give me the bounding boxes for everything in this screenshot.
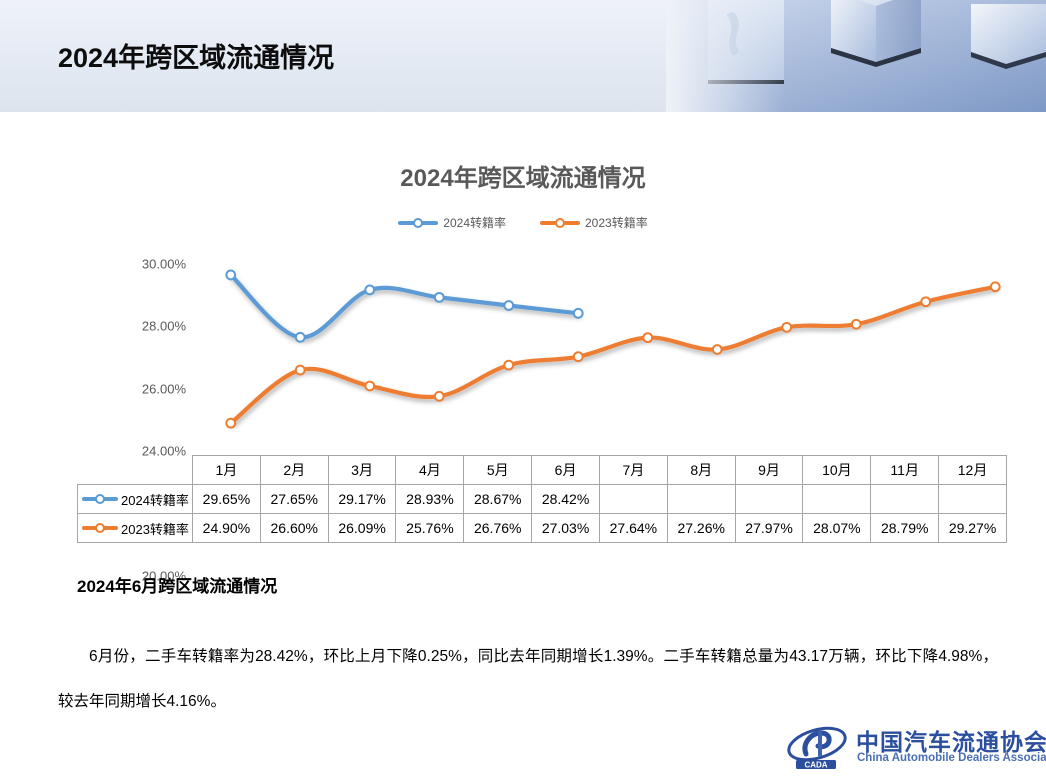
- legend-item-2024[interactable]: 2024转籍率: [398, 214, 506, 231]
- table-row: 2023转籍率24.90%26.60%26.09%25.76%26.76%27.…: [78, 514, 1007, 543]
- chart-series-2023转籍率: [226, 282, 999, 427]
- legend-marker-2024-icon: [398, 218, 438, 228]
- series-data-point[interactable]: [782, 323, 791, 332]
- cada-emblem-svg: CADA: [786, 724, 848, 770]
- series-data-point[interactable]: [296, 333, 305, 342]
- table-cell: 26.60%: [260, 514, 328, 543]
- legend-label-2023: 2023转籍率: [585, 214, 648, 231]
- series-data-point[interactable]: [504, 301, 513, 310]
- data-table: 1月2月3月4月5月6月7月8月9月10月11月12月 2024转籍率29.65…: [77, 455, 1007, 543]
- series-data-point[interactable]: [991, 282, 1000, 291]
- series-data-point[interactable]: [574, 352, 583, 361]
- table-cell: 24.90%: [193, 514, 261, 543]
- series-marker-icon: [82, 523, 118, 533]
- series-data-point[interactable]: [504, 361, 513, 370]
- slide-page: 2024年跨区域流通情况 2024年跨区域流通情况 2024转籍率 2023转籍…: [0, 0, 1046, 781]
- table-header-row: 1月2月3月4月5月6月7月8月9月10月11月12月: [78, 456, 1007, 485]
- cada-emblem-icon: CADA: [786, 724, 848, 770]
- series-data-point[interactable]: [365, 286, 374, 295]
- series-data-point[interactable]: [713, 345, 722, 354]
- table-column-header: 4月: [396, 456, 464, 485]
- series-data-point[interactable]: [226, 271, 235, 280]
- table-cell: 25.76%: [396, 514, 464, 543]
- table-row-header: 2024转籍率: [78, 485, 193, 514]
- table-cell: 28.93%: [396, 485, 464, 514]
- table-column-header: 2月: [260, 456, 328, 485]
- table-cell: [871, 485, 939, 514]
- table-cell: [599, 485, 667, 514]
- table-cell: 29.27%: [939, 514, 1007, 543]
- legend-label-2024: 2024转籍率: [443, 214, 506, 231]
- cubes-svg: [666, 0, 1046, 112]
- series-line: [231, 275, 579, 338]
- series-data-point[interactable]: [574, 309, 583, 318]
- table-column-header: 6月: [532, 456, 600, 485]
- table-column-header: 3月: [328, 456, 396, 485]
- table-cell: 29.17%: [328, 485, 396, 514]
- table-cell: [803, 485, 871, 514]
- page-header: 2024年跨区域流通情况: [0, 0, 1046, 112]
- table-row: 2024转籍率29.65%27.65%29.17%28.93%28.67%28.…: [78, 485, 1007, 514]
- table-column-header: 9月: [735, 456, 803, 485]
- table-cell: 28.07%: [803, 514, 871, 543]
- table-column-header: 5月: [464, 456, 532, 485]
- table-column-header: 1月: [193, 456, 261, 485]
- table-cell: 26.76%: [464, 514, 532, 543]
- table-column-header: 8月: [667, 456, 735, 485]
- y-axis-tick: 28.00%: [108, 319, 186, 334]
- table-column-header: 7月: [599, 456, 667, 485]
- series-data-point[interactable]: [296, 366, 305, 375]
- table-column-header: 10月: [803, 456, 871, 485]
- y-axis-tick: 30.00%: [108, 257, 186, 272]
- table-cell: [939, 485, 1007, 514]
- table-row-label: 2023转籍率: [121, 519, 189, 538]
- table-column-header: 11月: [871, 456, 939, 485]
- series-marker-icon: [82, 494, 118, 504]
- section-heading: 2024年6月跨区域流通情况: [77, 572, 277, 597]
- table-body: 2024转籍率29.65%27.65%29.17%28.93%28.67%28.…: [78, 485, 1007, 543]
- svg-text:CADA: CADA: [804, 760, 827, 769]
- series-data-point[interactable]: [365, 382, 374, 391]
- table-cell: [735, 485, 803, 514]
- series-data-point[interactable]: [921, 297, 930, 306]
- table-cell: 27.03%: [532, 514, 600, 543]
- table-cell: 26.09%: [328, 514, 396, 543]
- legend-marker-2023-icon: [540, 218, 580, 228]
- table-cell: 28.42%: [532, 485, 600, 514]
- chart-series-2024转籍率: [226, 271, 582, 342]
- table-cell: 27.26%: [667, 514, 735, 543]
- table-corner-blank: [78, 456, 193, 485]
- y-axis-tick: 26.00%: [108, 381, 186, 396]
- chart-title: 2024年跨区域流通情况: [0, 158, 1046, 193]
- table-row-header: 2023转籍率: [78, 514, 193, 543]
- table-cell: 27.64%: [599, 514, 667, 543]
- page-title: 2024年跨区域流通情况: [58, 36, 334, 75]
- table-cell: 28.67%: [464, 485, 532, 514]
- table-cell: [667, 485, 735, 514]
- table-row-label: 2024转籍率: [121, 490, 189, 509]
- legend-item-2023[interactable]: 2023转籍率: [540, 214, 648, 231]
- series-data-point[interactable]: [643, 333, 652, 342]
- table-cell: 27.65%: [260, 485, 328, 514]
- chart-legend: 2024转籍率 2023转籍率: [0, 214, 1046, 231]
- blue-cubes-graphic: [666, 0, 1046, 112]
- cada-logo: CADA 中国汽车流通协会 China Automobile Dealers A…: [786, 722, 1036, 774]
- data-table-wrap: 1月2月3月4月5月6月7月8月9月10月11月12月 2024转籍率29.65…: [77, 455, 1007, 543]
- table-column-header: 12月: [939, 456, 1007, 485]
- table-cell: 27.97%: [735, 514, 803, 543]
- table-cell: 28.79%: [871, 514, 939, 543]
- section-paragraph: 6月份，二手车转籍率为28.42%，环比上月下降0.25%，同比去年同期增长1.…: [58, 634, 998, 724]
- series-data-point[interactable]: [435, 392, 444, 401]
- logo-name-en: China Automobile Dealers Association: [857, 752, 1046, 764]
- series-data-point[interactable]: [226, 419, 235, 428]
- table-cell: 29.65%: [193, 485, 261, 514]
- series-data-point[interactable]: [435, 293, 444, 302]
- series-data-point[interactable]: [852, 320, 861, 329]
